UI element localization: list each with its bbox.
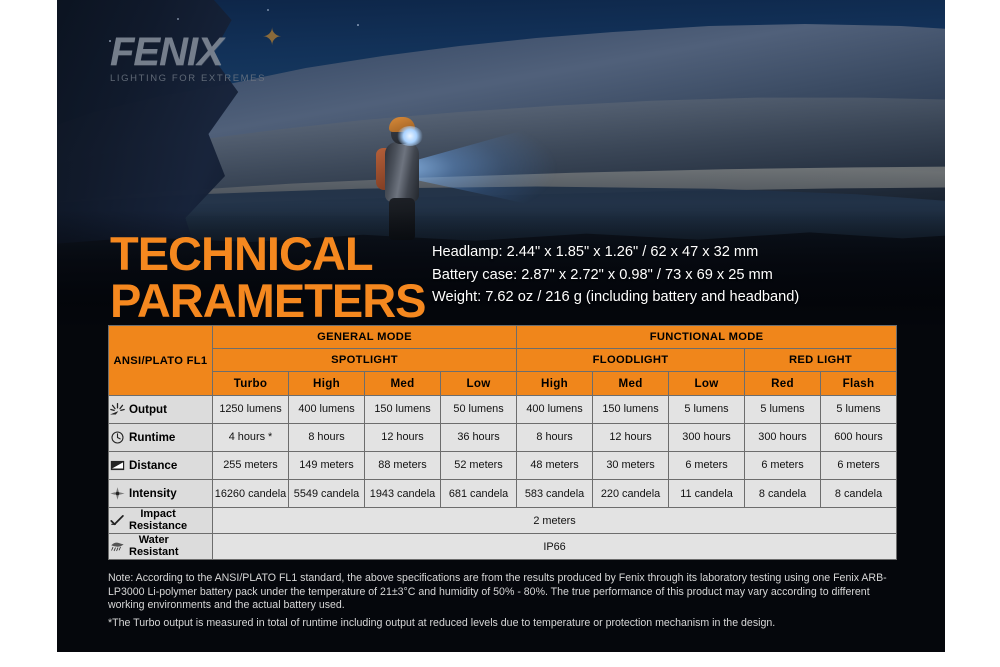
specifications-table: ANSI/PLATO FL1 GENERAL MODE FUNCTIONAL M… bbox=[108, 325, 897, 560]
table-row-distance: Distance 255 meters 149 meters 88 meters… bbox=[109, 452, 897, 480]
standard-label-cell: ANSI/PLATO FL1 bbox=[109, 326, 213, 396]
row-label-output-text: Output bbox=[129, 403, 167, 416]
title-line-2: PARAMETERS bbox=[110, 277, 440, 324]
beam-spotlight: SPOTLIGHT bbox=[213, 349, 517, 372]
table-header-mode-row: ANSI/PLATO FL1 GENERAL MODE FUNCTIONAL M… bbox=[109, 326, 897, 349]
mode-general: GENERAL MODE bbox=[213, 326, 517, 349]
cell-distance-2: 88 meters bbox=[365, 452, 441, 480]
cell-intensity-1: 5549 candela bbox=[289, 480, 365, 508]
cell-distance-7: 6 meters bbox=[745, 452, 821, 480]
cell-impact-resistance-value: 2 meters bbox=[213, 508, 897, 534]
level-redlight-flash: Flash bbox=[821, 372, 897, 396]
star-speck bbox=[177, 18, 179, 20]
table-row-water-resistant: Water Resistant IP66 bbox=[109, 534, 897, 560]
cell-intensity-0: 16260 candela bbox=[213, 480, 289, 508]
level-spotlight-low: Low bbox=[441, 372, 517, 396]
cell-water-resistant-value: IP66 bbox=[213, 534, 897, 560]
cell-runtime-6: 300 hours bbox=[669, 424, 745, 452]
level-spotlight-turbo: Turbo bbox=[213, 372, 289, 396]
table-header-beam-row: SPOTLIGHT FLOODLIGHT RED LIGHT bbox=[109, 349, 897, 372]
row-label-intensity-text: Intensity bbox=[129, 487, 177, 500]
row-label-water-line1: Water bbox=[139, 534, 169, 546]
dimensions-block: Headlamp: 2.44" x 1.85" x 1.26" / 62 x 4… bbox=[432, 241, 902, 309]
row-label-intensity: Intensity bbox=[109, 480, 213, 508]
footnote-main: Note: According to the ANSI/PLATO FL1 st… bbox=[108, 572, 898, 613]
row-label-runtime: Runtime bbox=[109, 424, 213, 452]
page-title: TECHNICAL PARAMETERS bbox=[110, 230, 440, 324]
table-row-runtime: Runtime 4 hours * 8 hours 12 hours 36 ho… bbox=[109, 424, 897, 452]
level-floodlight-low: Low bbox=[669, 372, 745, 396]
row-label-water-line2: Resistant bbox=[129, 546, 179, 558]
level-redlight-red: Red bbox=[745, 372, 821, 396]
row-label-runtime-text: Runtime bbox=[129, 431, 175, 444]
dimension-headlamp: Headlamp: 2.44" x 1.85" x 1.26" / 62 x 4… bbox=[432, 241, 902, 264]
table-row-intensity: Intensity 16260 candela 5549 candela 194… bbox=[109, 480, 897, 508]
cell-distance-6: 6 meters bbox=[669, 452, 745, 480]
cell-runtime-2: 12 hours bbox=[365, 424, 441, 452]
cell-distance-3: 52 meters bbox=[441, 452, 517, 480]
cell-output-4: 400 lumens bbox=[517, 396, 593, 424]
dimension-weight: Weight: 7.62 oz / 216 g (including batte… bbox=[432, 286, 902, 309]
footnote-asterisk: *The Turbo output is measured in total o… bbox=[108, 617, 898, 631]
footnote-block: Note: According to the ANSI/PLATO FL1 st… bbox=[108, 572, 898, 630]
row-label-distance-text: Distance bbox=[129, 459, 177, 472]
table-header-level-row: Turbo High Med Low High Med Low Red Flas… bbox=[109, 372, 897, 396]
cell-intensity-6: 11 candela bbox=[669, 480, 745, 508]
cell-output-0: 1250 lumens bbox=[213, 396, 289, 424]
level-floodlight-high: High bbox=[517, 372, 593, 396]
row-label-water-resistant: Water Resistant bbox=[109, 534, 213, 560]
table-row-impact-resistance: Impact Resistance 2 meters bbox=[109, 508, 897, 534]
cell-output-7: 5 lumens bbox=[745, 396, 821, 424]
row-label-output: Output bbox=[109, 396, 213, 424]
clock-icon bbox=[109, 430, 126, 445]
cell-runtime-3: 36 hours bbox=[441, 424, 517, 452]
jacket bbox=[385, 142, 419, 202]
title-line-1: TECHNICAL bbox=[110, 230, 440, 277]
water-drops-icon bbox=[109, 539, 126, 554]
dimension-battery-case: Battery case: 2.87" x 2.72" x 0.98" / 73… bbox=[432, 264, 902, 287]
cell-output-6: 5 lumens bbox=[669, 396, 745, 424]
cell-intensity-7: 8 candela bbox=[745, 480, 821, 508]
row-label-impact-line2: Resistance bbox=[129, 520, 187, 532]
beam-floodlight: FLOODLIGHT bbox=[517, 349, 745, 372]
cell-distance-1: 149 meters bbox=[289, 452, 365, 480]
cell-runtime-4: 8 hours bbox=[517, 424, 593, 452]
cell-runtime-1: 8 hours bbox=[289, 424, 365, 452]
cell-intensity-4: 583 candela bbox=[517, 480, 593, 508]
row-label-distance: Distance bbox=[109, 452, 213, 480]
cell-distance-8: 6 meters bbox=[821, 452, 897, 480]
cell-intensity-5: 220 candela bbox=[593, 480, 669, 508]
logo-tagline: LIGHTING FOR EXTREMES bbox=[110, 73, 310, 84]
flame-star-icon: ✦ bbox=[262, 26, 284, 50]
crosshair-icon bbox=[109, 486, 126, 501]
cell-runtime-5: 12 hours bbox=[593, 424, 669, 452]
level-spotlight-med: Med bbox=[365, 372, 441, 396]
impact-check-icon bbox=[109, 513, 126, 528]
cell-runtime-7: 300 hours bbox=[745, 424, 821, 452]
cell-intensity-2: 1943 candela bbox=[365, 480, 441, 508]
cell-intensity-8: 8 candela bbox=[821, 480, 897, 508]
cell-intensity-3: 681 candela bbox=[441, 480, 517, 508]
level-floodlight-med: Med bbox=[593, 372, 669, 396]
cell-output-2: 150 lumens bbox=[365, 396, 441, 424]
cell-distance-5: 30 meters bbox=[593, 452, 669, 480]
cell-distance-0: 255 meters bbox=[213, 452, 289, 480]
star-speck bbox=[267, 9, 269, 11]
content-panel: FENIX LIGHTING FOR EXTREMES ✦ TECHNICAL … bbox=[57, 0, 945, 652]
beam-redlight: RED LIGHT bbox=[745, 349, 897, 372]
table-row-output: Output 1250 lumens 400 lumens 150 lumens… bbox=[109, 396, 897, 424]
row-label-impact-line1: Impact bbox=[140, 508, 175, 520]
cell-output-8: 5 lumens bbox=[821, 396, 897, 424]
cell-output-5: 150 lumens bbox=[593, 396, 669, 424]
screenshot-root: FENIX LIGHTING FOR EXTREMES ✦ TECHNICAL … bbox=[0, 0, 1000, 667]
cell-runtime-8: 600 hours bbox=[821, 424, 897, 452]
star-speck bbox=[357, 24, 359, 26]
light-rays-icon bbox=[109, 402, 126, 417]
beam-distance-icon bbox=[109, 458, 126, 473]
cell-runtime-0: 4 hours * bbox=[213, 424, 289, 452]
mode-functional: FUNCTIONAL MODE bbox=[517, 326, 897, 349]
beam-hotspot bbox=[397, 126, 423, 146]
cell-distance-4: 48 meters bbox=[517, 452, 593, 480]
cell-output-3: 50 lumens bbox=[441, 396, 517, 424]
fenix-logo: FENIX LIGHTING FOR EXTREMES ✦ bbox=[110, 32, 310, 90]
level-spotlight-high: High bbox=[289, 372, 365, 396]
cell-output-1: 400 lumens bbox=[289, 396, 365, 424]
row-label-impact-resistance: Impact Resistance bbox=[109, 508, 213, 534]
